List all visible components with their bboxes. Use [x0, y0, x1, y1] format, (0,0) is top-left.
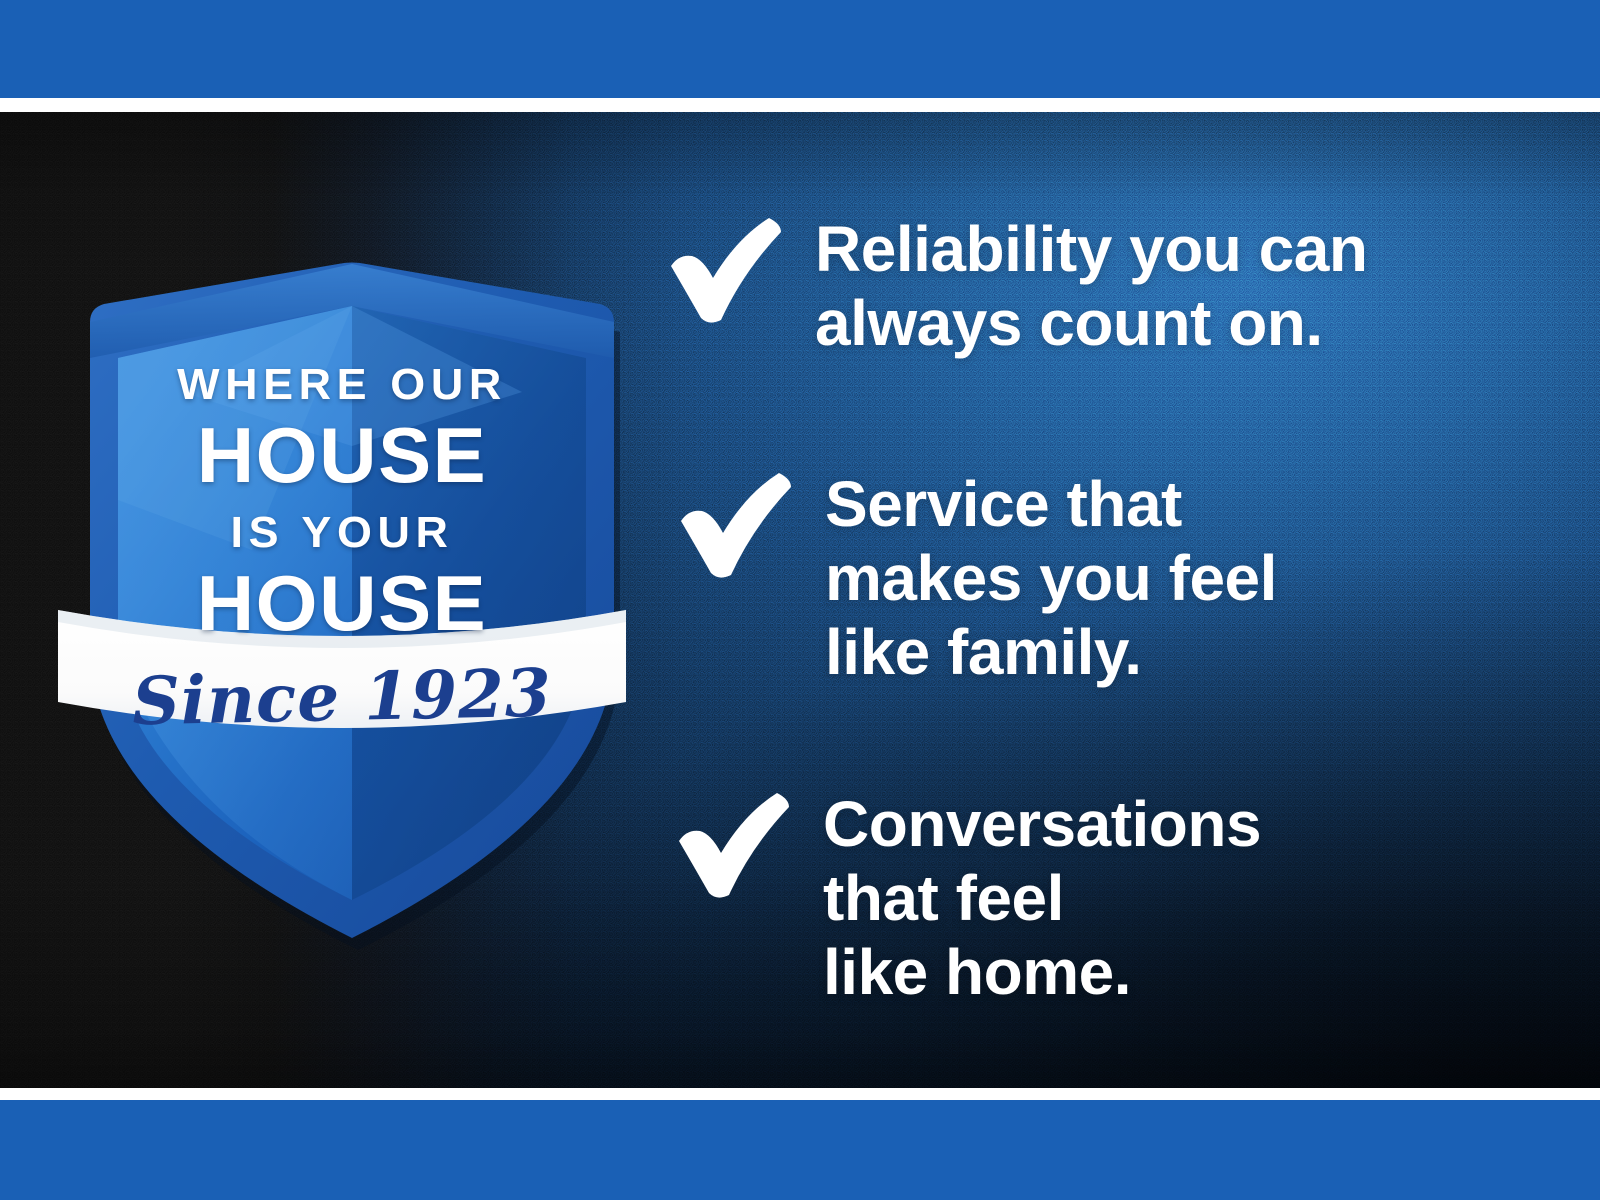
top-brand-bar	[0, 0, 1600, 98]
check-icon	[673, 791, 805, 903]
check-icon	[675, 471, 807, 583]
list-item-text: Reliability you can always count on.	[815, 212, 1367, 360]
list-item: Conversations that feel like home.	[673, 787, 1261, 1010]
promo-graphic: WHERE OUR HOUSE IS YOUR HOUSE Since 1923…	[0, 0, 1600, 1200]
list-item: Reliability you can always count on.	[665, 212, 1367, 360]
list-item-text: Service that makes you feel like family.	[825, 467, 1277, 690]
list-item-text: Conversations that feel like home.	[823, 787, 1261, 1010]
bottom-brand-bar	[0, 1100, 1600, 1200]
check-icon	[665, 216, 797, 328]
benefits-list: Reliability you can always count on. Ser…	[665, 112, 1525, 1088]
list-item: Service that makes you feel like family.	[675, 467, 1277, 690]
shield-badge: WHERE OUR HOUSE IS YOUR HOUSE Since 1923	[52, 250, 632, 950]
